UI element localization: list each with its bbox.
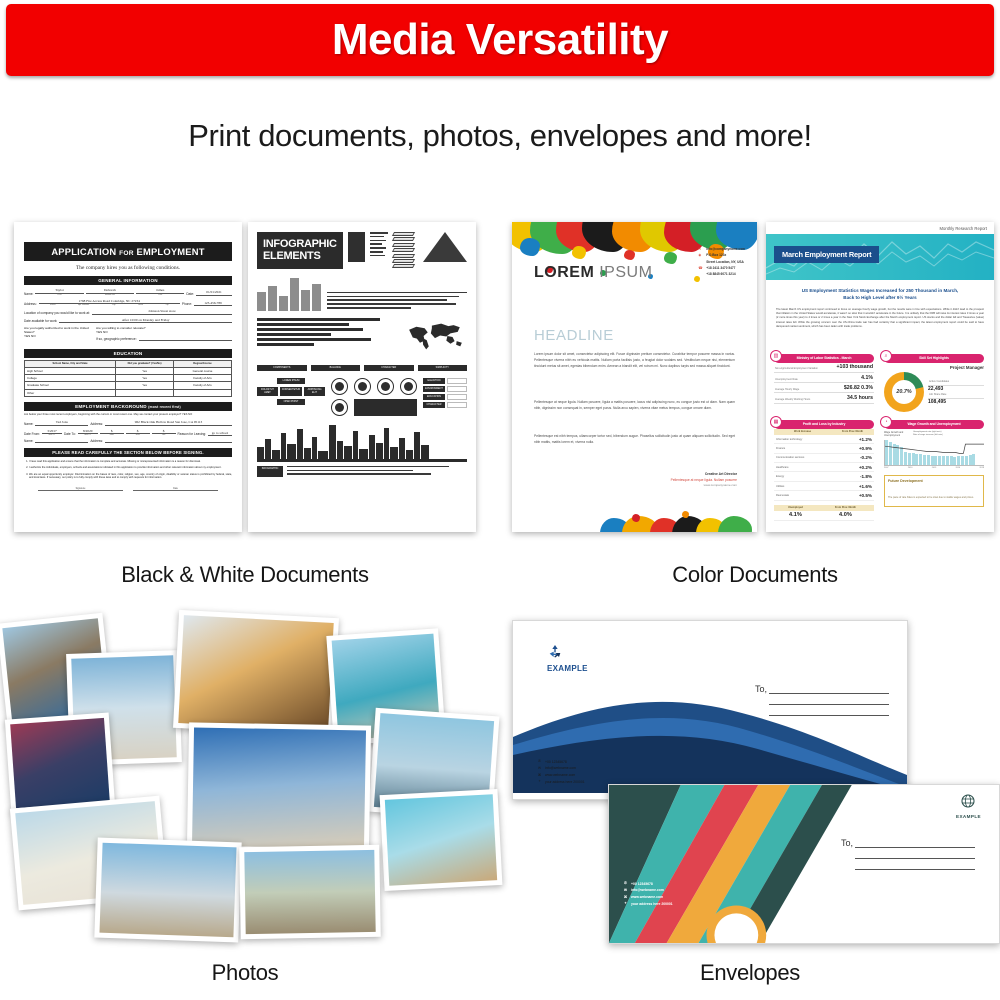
document-infographic-elements[interactable]: INFOGRAPHIC ELEMENTS xyxy=(248,222,476,532)
panel-title: Skill Set Highlights xyxy=(884,354,984,363)
chart-xaxis: 20072010 20132016 2018 xyxy=(884,467,984,469)
phone-icon: ✆ xyxy=(537,758,542,765)
stats-icon: ▥ xyxy=(770,350,782,362)
role-label: Project Manager xyxy=(884,365,984,370)
date-line: Date xyxy=(133,488,218,491)
envelope-teal-contacts: ✆+00 12345678 ✉info@webname.com ⌘www.web… xyxy=(623,880,673,907)
pin-icon: ⌖ xyxy=(623,900,628,907)
mail-icon: ✉ xyxy=(537,765,542,772)
stat-row: Job Share Rate xyxy=(928,392,984,399)
photo-collage xyxy=(0,612,500,952)
promenade-umbrellas-photo[interactable] xyxy=(94,838,241,943)
table-row: Real estate+0.5% xyxy=(774,491,874,500)
contact-row: ✉info@webname.com xyxy=(623,887,673,894)
legend-rows: ELEVATION ENVIRONMENT EDUCATION CHARACTE… xyxy=(423,378,467,408)
letterhead-paragraph-1: Lorem ipsum dolor sit amet, consectetur … xyxy=(534,352,735,369)
letterhead-paragraph-3: Pellentesque est nibh tempus, ullamcorpe… xyxy=(534,434,735,446)
table-row: Information technology+1.2% xyxy=(774,435,874,444)
field-name-row[interactable]: Name: TaylorFirst DeborahMiddle last Jam… xyxy=(24,288,232,296)
signature-line: Signature xyxy=(38,488,123,491)
globe-icon: ⌘ xyxy=(537,772,542,779)
panel-profit-loss-by-industry[interactable]: Profit and Loss by Industry ▦ Work Incre… xyxy=(774,420,874,521)
list-item: We are an equal opportunity employer. Di… xyxy=(29,473,232,481)
background-row-1-dates[interactable]: Date From: 3/2017MM/YY Date To: 8/2020MM… xyxy=(24,429,232,437)
caption-photos: Photos xyxy=(0,960,490,986)
report-body: The latest March US employment report co… xyxy=(776,308,984,329)
panel-title: Ministry of Labor Statistics - March xyxy=(774,354,874,363)
contact-row: ✆+00 12345678 xyxy=(623,880,673,887)
page-title: Media Versatility xyxy=(332,15,668,65)
table-row: Finance+0.9% xyxy=(774,444,874,453)
stat-row: Non-Agricultural Employment Variation+10… xyxy=(774,363,874,373)
background-row-1[interactable]: Name: Ted Jons Address: 962 Black Oak Ho… xyxy=(24,420,232,426)
footer-chip: INFOGRAPHIC xyxy=(257,466,283,477)
bar-chart-buildings xyxy=(257,277,321,311)
infographic-label-list xyxy=(370,232,388,258)
infographic-card-icon xyxy=(348,232,365,262)
city-skyline-graphic xyxy=(257,428,467,462)
list-item: I have read this application and ensure … xyxy=(29,460,232,464)
panel-labor-statistics[interactable]: Ministry of Labor Statistics - March ▥ N… xyxy=(774,354,874,404)
letterhead-signature: Creative Art Director Pellentesque at ne… xyxy=(671,472,737,488)
contact-row: ⌖your address here 200001 xyxy=(623,900,673,907)
documents-row: APPLICATION FOR EMPLOYMENT The company h… xyxy=(0,222,1000,542)
background-note: List below your three most recent employ… xyxy=(24,413,232,417)
phone-icon: ✆ xyxy=(623,880,628,887)
field-available[interactable]: Date available for work: After 10:00 on … xyxy=(24,318,232,324)
globe-stripes-logo-icon xyxy=(960,793,976,809)
panel-title: Wage Growth and Unemployment xyxy=(884,420,984,429)
stat-row: Average Hourly Wage$26.82 0.3% xyxy=(774,383,874,393)
palm-street-photo[interactable] xyxy=(239,845,381,939)
table-row: Other xyxy=(25,389,232,396)
table-row: 4.1% 4.0% xyxy=(774,511,874,521)
section-read-before-signing: PLEASE READ CAREFULLY THE SECTION BELOW … xyxy=(24,448,232,457)
letterhead-paragraph-2: Pellentesque at neque ligula. Nullam pos… xyxy=(534,400,735,412)
panel-wage-growth-unemployment[interactable]: Wage Growth and Unemployment ◔ Wage Grow… xyxy=(884,420,984,507)
terms-list: I have read this application and ensure … xyxy=(24,460,232,481)
table-row: Healthcare+0.2% xyxy=(774,463,874,472)
phone-icon: ☎ xyxy=(698,265,703,271)
letterhead-contacts: ✉info@companyname.com ◉P.O.Box 123x Stre… xyxy=(698,246,745,278)
list-item: I authorize the individuals, employers, … xyxy=(29,466,232,470)
pin-icon: ◉ xyxy=(698,252,703,258)
resort-pool-photo[interactable] xyxy=(380,789,503,891)
table-row: Communication services-0.2% xyxy=(774,453,874,462)
table-row: Utilities+1.6% xyxy=(774,481,874,490)
chip-label: CHARACTER xyxy=(364,365,414,371)
santorini-church-photo[interactable] xyxy=(187,722,371,853)
contact-row: ✉info@webname.com xyxy=(537,765,585,772)
stat-row: Unemployment Rate4.1% xyxy=(774,373,874,383)
envelope-blue-to-lines[interactable]: To, xyxy=(755,683,889,716)
industry-table: Work IncreaseFrom Prev. Month Informatio… xyxy=(774,429,874,501)
table-row: Energy-1.8% xyxy=(774,472,874,481)
envelope-blue-brand: EXAMPLE xyxy=(547,643,588,673)
envelope-blue[interactable]: EXAMPLE To, ✆+00 12345678 ✉info@webname.… xyxy=(512,620,908,800)
caption-color-documents: Color Documents xyxy=(510,562,1000,588)
section-employment-background: EMPLOYMENT BACKGROUND (most recent first… xyxy=(24,402,232,411)
graph-icon: ◔ xyxy=(880,416,892,428)
stat-row: Average Weekly Working Hours34.5 hours xyxy=(774,393,874,403)
caption-black-white-documents: Black & White Documents xyxy=(0,562,490,588)
application-title: APPLICATION FOR EMPLOYMENT xyxy=(24,242,232,261)
globe-icon: ⌘ xyxy=(623,894,628,901)
mail-icon: ✉ xyxy=(623,887,628,894)
chip-label: BALANCE xyxy=(311,365,361,371)
background-row-2[interactable]: Name: Address: xyxy=(24,439,232,443)
unemployed-table: UnemployedFrom Prev. Month 4.1% 4.0% xyxy=(774,505,874,522)
envelope-blue-contacts: ✆+00 12345678 ✉info@webname.com ⌘www.web… xyxy=(537,758,585,785)
table-row: High SchoolYesGeneral course xyxy=(25,367,232,374)
contact-row: ⌖your address here 200001 xyxy=(537,778,585,785)
envelopes-group: EXAMPLE To, ✆+00 12345678 ✉info@webname.… xyxy=(500,612,1000,952)
legend-item: Rate of wage increase (left axis) xyxy=(913,434,984,437)
paint-splatter-bottom xyxy=(512,498,757,532)
recycle-logo-icon xyxy=(547,643,563,659)
panel-title: Profit and Loss by Industry xyxy=(774,420,874,429)
circle-icons-group xyxy=(331,378,417,416)
panel-skill-set-highlights[interactable]: Skill Set Highlights ⌕ Project Manager 2… xyxy=(884,354,984,412)
stat-row: Active Candidates xyxy=(928,379,984,386)
chart-caption: Wage Growth and Unemployment xyxy=(884,431,910,437)
document-lorem-ipsum-letterhead[interactable]: LOREM IPSUM ✉info@companyname.com ◉P.O.B… xyxy=(512,222,757,532)
envelope-teal-brand: EXAMPLE xyxy=(956,793,981,819)
field-address-row[interactable]: Address: 1768 Fire Access Road Coleridge… xyxy=(24,299,232,307)
pool-dusk-photo[interactable] xyxy=(5,712,115,813)
chip-label: SIMPLICITY xyxy=(418,365,468,371)
infographic-title: INFOGRAPHIC ELEMENTS xyxy=(257,232,343,269)
header-banner: Media Versatility xyxy=(6,4,994,76)
lorem-ipsum-logo: LOREM IPSUM xyxy=(534,264,652,282)
report-kicker: Monthly Research Report xyxy=(940,226,987,231)
horizontal-bar-chart xyxy=(257,318,400,359)
sailboat-deck-photo[interactable] xyxy=(173,610,339,736)
page-subtitle: Print documents, photos, envelopes and m… xyxy=(0,118,1000,154)
donut-chart: 20.7% xyxy=(884,372,924,412)
contact-row: ✆+00 12345678 xyxy=(537,758,585,765)
contact-row: +18 8845 6071 3214 xyxy=(698,271,745,277)
flow-diagram: LOREM IPSUM DOLOR SIT AMET CONSECTETUR A… xyxy=(257,378,325,405)
field-relocation[interactable]: Are you willing to consider relocate? YE… xyxy=(96,326,232,344)
envelope-teal-to-lines[interactable]: To, xyxy=(841,837,975,870)
application-tagline: The company hires you as following condi… xyxy=(24,265,232,271)
education-table: School Name, City and State Did you grad… xyxy=(24,360,232,397)
document-march-employment-report[interactable]: Monthly Research Report March Employment… xyxy=(766,222,994,532)
table-row: Graduate SchoolYesFaculty of Arts xyxy=(25,382,232,389)
server-stack-icon xyxy=(393,232,414,270)
section-general-information: GENERAL INFORMATION xyxy=(24,276,232,285)
pin-icon: ⌖ xyxy=(537,778,542,785)
field-legal-authorization[interactable]: Are you legally authorized to work in th… xyxy=(24,326,92,344)
table-row: CollegeYesFaculty of Arts xyxy=(25,374,232,381)
document-application-for-employment[interactable]: APPLICATION FOR EMPLOYMENT The company h… xyxy=(14,222,242,532)
chart-icon: ▦ xyxy=(770,416,782,428)
caption-envelopes: Envelopes xyxy=(500,960,1000,986)
wage-growth-chart xyxy=(884,440,984,466)
chip-label: COMPONENTS xyxy=(257,365,307,371)
letterhead-headline: HEADLINE xyxy=(534,327,614,344)
report-title-badge: March Employment Report xyxy=(774,246,879,263)
report-headline: US Employment Statistics Wages Increased… xyxy=(776,288,984,302)
world-map-graphic xyxy=(405,318,467,359)
field-location[interactable]: Location of company you would like to wo… xyxy=(24,309,232,315)
search-icon: ⌕ xyxy=(880,350,892,362)
contact-row: ⌘www.webname.com xyxy=(623,894,673,901)
signature-row[interactable]: Signature Date xyxy=(24,488,232,491)
envelope-teal[interactable]: EXAMPLE To, ✆+00 12345678 ✉info@webname.… xyxy=(608,784,1000,944)
section-education: EDUCATION xyxy=(24,349,232,358)
future-development-box: Future Development The pace of rate hike… xyxy=(884,475,984,507)
infographic-text-block xyxy=(327,292,467,311)
pyramid-chart xyxy=(423,232,467,262)
contact-row: ⌘www.webname.com xyxy=(537,772,585,779)
